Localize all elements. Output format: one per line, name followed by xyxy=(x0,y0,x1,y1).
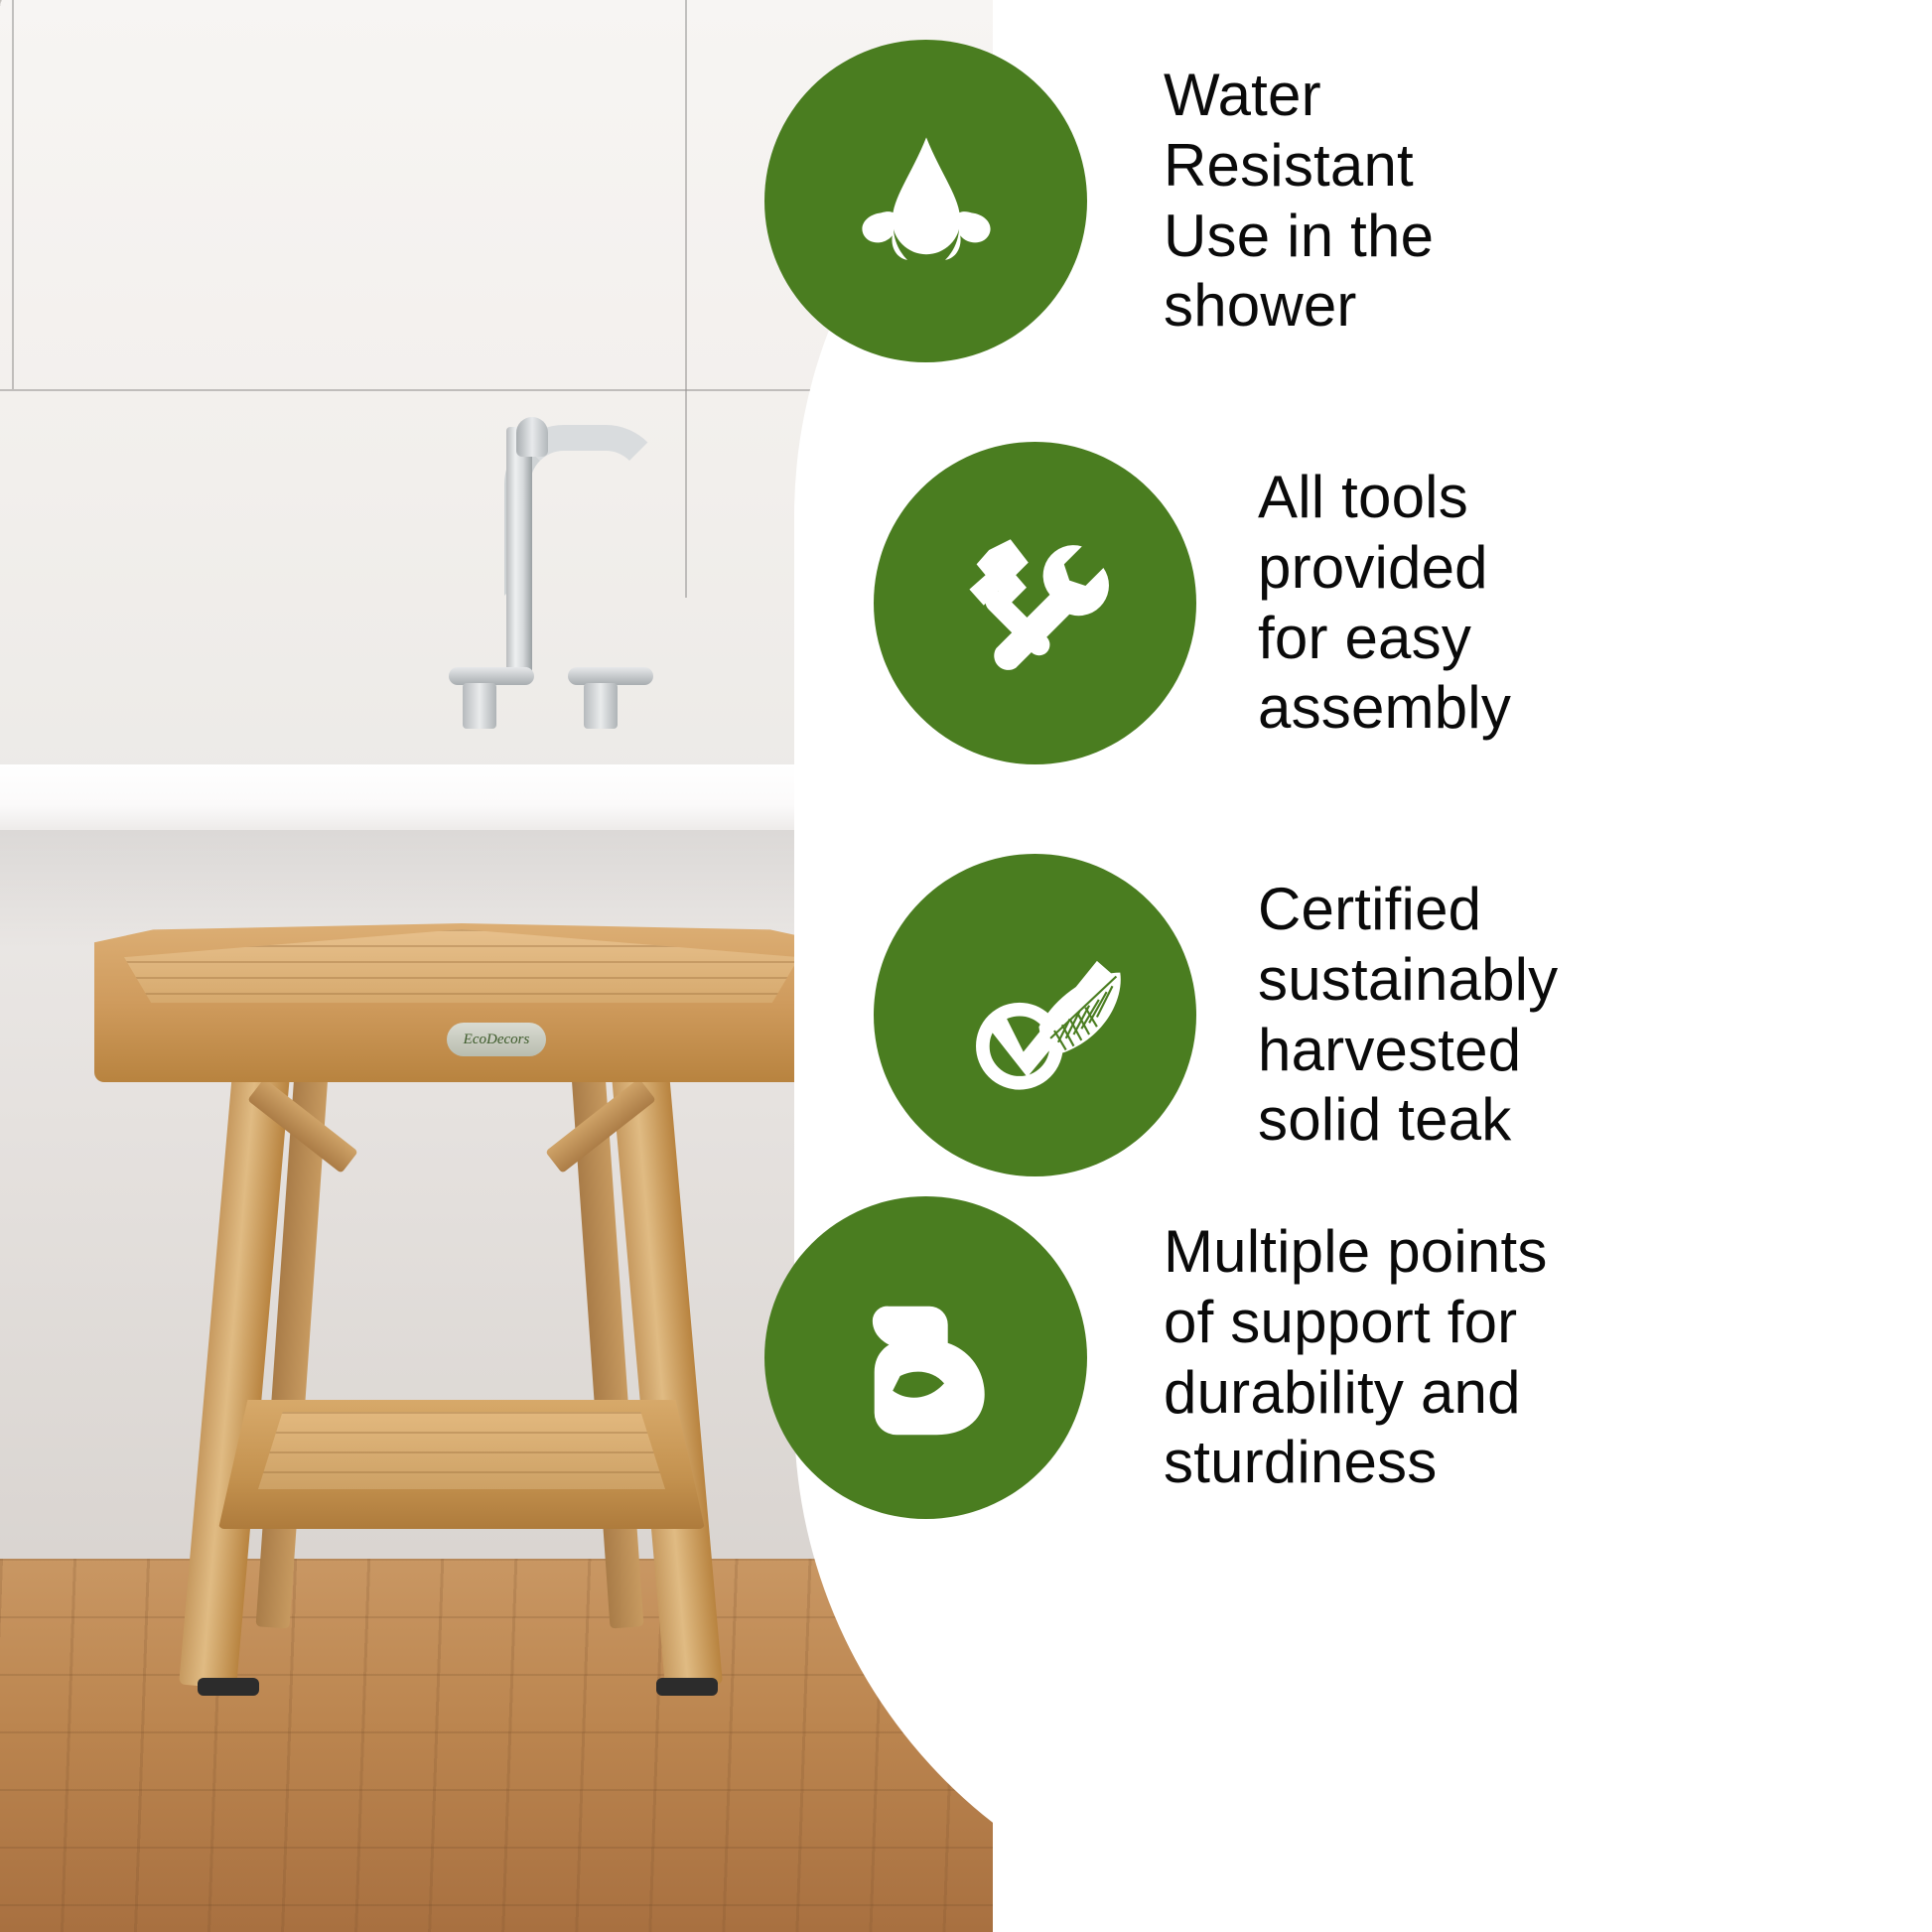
feature-line: provided xyxy=(1258,533,1576,604)
feature-all-tools-provided: All tools provided for easy assembly xyxy=(874,442,1576,764)
feature-text: Multiple points of support for durabilit… xyxy=(1164,1217,1581,1498)
stool-foot-left xyxy=(198,1678,259,1696)
feature-line: harvested xyxy=(1258,1016,1586,1086)
feature-line: shower xyxy=(1164,271,1581,342)
feature-line: of support for xyxy=(1164,1288,1581,1358)
feature-text: Certified sustainably harvested solid te… xyxy=(1258,875,1586,1156)
feature-line: durability and xyxy=(1164,1358,1581,1429)
infographic-canvas: EcoDecors Water Resistant Use in the sho… xyxy=(0,0,1932,1932)
feature-icon-badge xyxy=(764,1196,1087,1519)
faucet-spout xyxy=(516,417,548,457)
tile-grout-vertical-right xyxy=(685,0,687,389)
feature-line: solid teak xyxy=(1258,1085,1586,1156)
feature-line: for easy xyxy=(1258,604,1576,674)
feature-line: Certified xyxy=(1258,875,1586,945)
flexed-bicep-icon xyxy=(834,1266,1018,1449)
feature-text: All tools provided for easy assembly xyxy=(1258,463,1576,744)
feature-water-resistant: Water Resistant Use in the shower xyxy=(764,40,1581,362)
feature-line: sturdiness xyxy=(1164,1428,1581,1498)
feature-icon-badge xyxy=(874,854,1196,1176)
faucet-handle-base-left xyxy=(463,683,496,729)
faucet-body xyxy=(506,427,532,675)
feature-line: All tools xyxy=(1258,463,1576,533)
feature-certified-sustainable: Certified sustainably harvested solid te… xyxy=(874,854,1586,1176)
feature-line: Multiple points xyxy=(1164,1217,1581,1288)
feature-line: Water Resistant xyxy=(1164,61,1581,202)
brand-badge: EcoDecors xyxy=(447,1023,546,1056)
leaf-checkmark-icon xyxy=(938,918,1132,1112)
feature-text: Water Resistant Use in the shower xyxy=(1164,61,1581,342)
feature-icon-badge xyxy=(874,442,1196,764)
tile-grout-vertical-lower xyxy=(685,389,687,598)
feature-line: assembly xyxy=(1258,673,1576,744)
stool-shelf-slats xyxy=(258,1412,665,1489)
feature-line: Use in the xyxy=(1164,202,1581,272)
tile-grout-vertical-left xyxy=(12,0,14,389)
feature-multiple-support-points: Multiple points of support for durabilit… xyxy=(764,1196,1581,1519)
feature-line: sustainably xyxy=(1258,945,1586,1016)
feature-icon-badge xyxy=(764,40,1087,362)
hammer-wrench-icon xyxy=(946,514,1125,693)
faucet-handle-base-right xyxy=(584,683,618,729)
stool-foot-right xyxy=(656,1678,718,1696)
teak-shower-stool: EcoDecors xyxy=(94,923,829,1757)
water-drop-splash-icon xyxy=(832,107,1021,296)
